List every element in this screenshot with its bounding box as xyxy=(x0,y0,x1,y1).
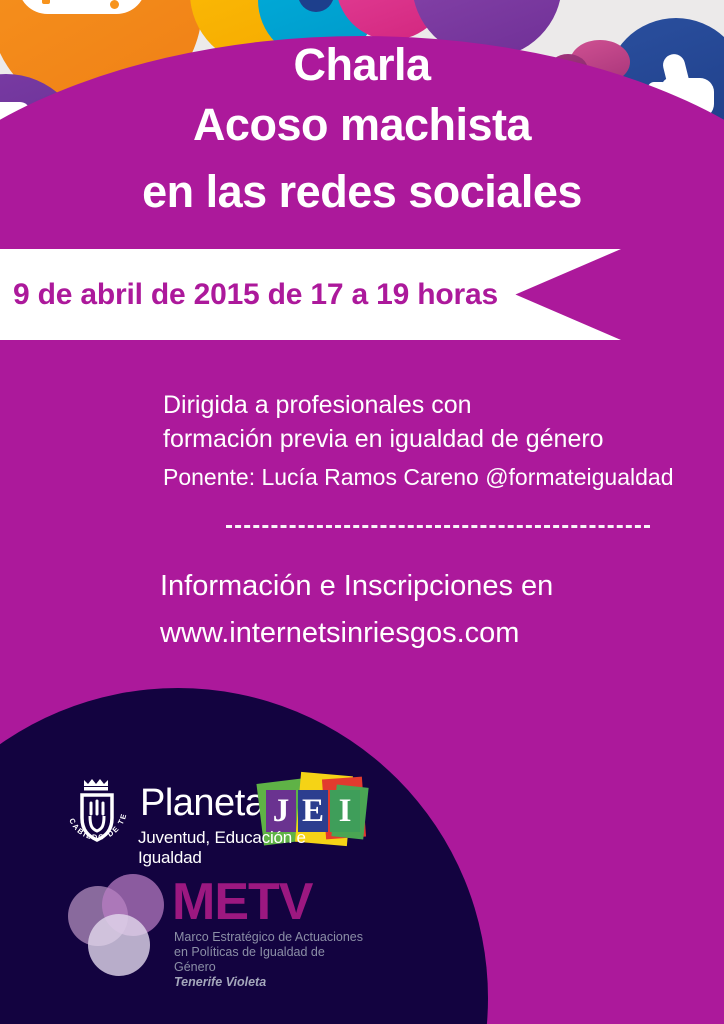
event-description: Dirigida a profesionales con formación p… xyxy=(163,388,723,494)
audience-line-2: formación previa en igualdad de género xyxy=(163,422,723,456)
venn-circles-icon xyxy=(68,874,172,978)
registration-info: Información e Inscripciones en www.inter… xyxy=(160,563,720,657)
headline-line-3: en las redes sociales xyxy=(0,158,724,226)
info-line-1: Información e Inscripciones en xyxy=(160,563,720,610)
planeta-tagline: Juventud, Educación e Igualdad xyxy=(138,828,372,868)
metv-tagline-line-2: en Políticas de Igualdad de Género xyxy=(174,945,368,975)
headline-line-1: Charla xyxy=(0,38,724,92)
headline-line-2: Acoso machista xyxy=(0,92,724,158)
planeta-wordmark: Planeta xyxy=(140,782,265,825)
page-title: Charla Acoso machista en las redes socia… xyxy=(0,38,724,226)
metv-logo: METV Marco Estratégico de Actuaciones en… xyxy=(68,874,368,994)
metv-tagline-line-3: Tenerife Violeta xyxy=(174,975,368,990)
jei-letter-e: E xyxy=(298,790,328,832)
cabildo-tenerife-shield-icon: CABILDO DE TENERIFE xyxy=(62,776,134,854)
metv-tagline-line-1: Marco Estratégico de Actuaciones xyxy=(174,930,368,945)
poster-canvas: Charla Acoso machista en las redes socia… xyxy=(0,0,724,1024)
audience-line-1: Dirigida a profesionales con xyxy=(163,388,723,422)
jei-letter-j: J xyxy=(266,790,296,832)
event-date-text: 9 de abril de 2015 de 17 a 19 horas xyxy=(0,278,498,312)
planeta-jei-logo: CABILDO DE TENERIFE Planeta J E I Juvent… xyxy=(62,776,372,862)
metv-tagline: Marco Estratégico de Actuaciones en Polí… xyxy=(174,930,368,990)
gamepad-icon xyxy=(18,0,146,24)
website-url[interactable]: www.internetsinriesgos.com xyxy=(160,610,720,657)
jei-letter-i: I xyxy=(330,790,360,832)
speaker-line: Ponente: Lucía Ramos Careno @formateigua… xyxy=(163,460,723,494)
dashed-divider xyxy=(226,525,650,528)
metv-acronym: METV xyxy=(172,876,312,928)
